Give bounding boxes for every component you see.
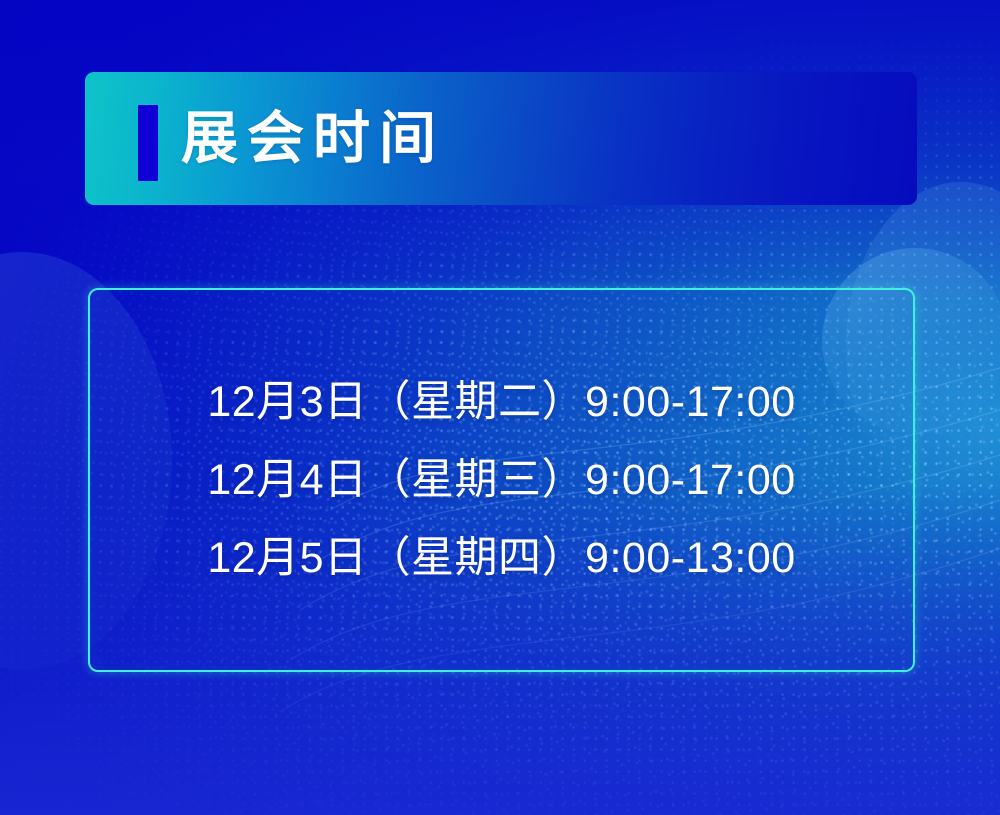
schedule-row: 12月4日（星期三）9:00-17:00 <box>207 441 795 519</box>
schedule-list: 12月3日（星期二）9:00-17:00 12月4日（星期三）9:00-17:0… <box>207 363 795 597</box>
section-header-banner: 展会时间 <box>85 72 917 205</box>
schedule-row: 12月3日（星期二）9:00-17:00 <box>207 363 795 441</box>
poster-canvas: 展会时间 12月3日（星期二）9:00-17:00 12月4日（星期三）9:00… <box>0 0 1000 815</box>
schedule-frame: 12月3日（星期二）9:00-17:00 12月4日（星期三）9:00-17:0… <box>88 288 915 672</box>
accent-bar-icon <box>138 105 158 181</box>
schedule-row: 12月5日（星期四）9:00-13:00 <box>207 519 795 597</box>
page-title: 展会时间 <box>181 110 445 167</box>
